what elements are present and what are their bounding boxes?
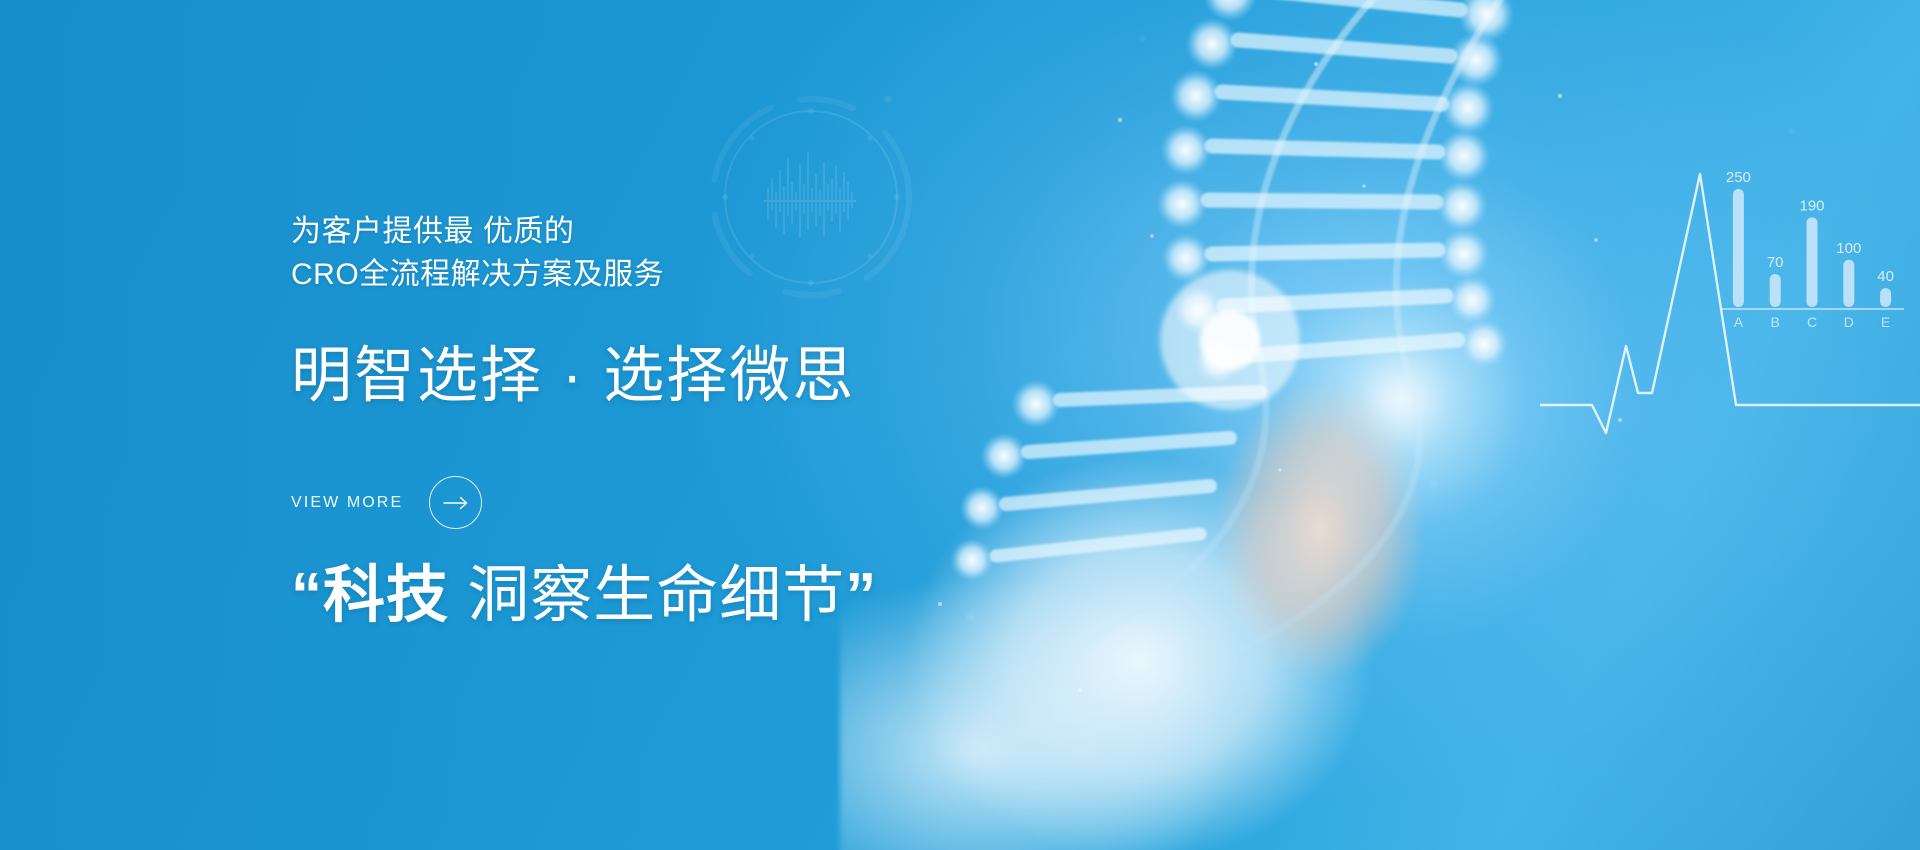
hero-subtitle: 为客户提供最 优质的 CRO全流程解决方案及服务 [291, 210, 664, 296]
hero-banner: 250A70B190C100D40E 为客户提供最 优质的 CRO全流程解决方案… [0, 0, 1920, 850]
bar-D [1843, 260, 1854, 307]
bar-value-E: 40 [1877, 268, 1894, 285]
arrow-right-circle-icon[interactable] [429, 476, 482, 529]
bar-value-D: 100 [1836, 240, 1861, 257]
hero-quote: “科技 洞察生命细节” [291, 560, 877, 631]
view-more-button[interactable]: VIEW MORE [291, 476, 482, 529]
bar-E [1880, 288, 1891, 307]
bar-value-A: 250 [1726, 169, 1751, 186]
bar-C [1807, 217, 1818, 307]
bar-category-A: A [1734, 314, 1744, 330]
quote-strong-text: 科技 [323, 561, 449, 630]
bar-category-E: E [1881, 314, 1890, 330]
bar-category-D: D [1844, 314, 1854, 330]
bar-category-C: C [1807, 314, 1817, 330]
bar-chart: 250A70B190C100D40E [1712, 155, 1912, 350]
bar-value-B: 70 [1767, 254, 1784, 271]
bar-B [1770, 274, 1781, 307]
quote-close-mark: ” [845, 561, 877, 630]
bar-category-B: B [1771, 314, 1780, 330]
quote-rest-text: 洞察生命细节 [449, 561, 845, 630]
hero-content: 为客户提供最 优质的 CRO全流程解决方案及服务 明智选择 · 选择微思 VIE… [291, 0, 1071, 850]
bar-value-C: 190 [1799, 197, 1824, 214]
hero-headline: 明智选择 · 选择微思 [291, 340, 855, 411]
view-more-label: VIEW MORE [291, 494, 403, 512]
bar-A [1733, 189, 1744, 307]
quote-open-mark: “ [291, 561, 323, 630]
